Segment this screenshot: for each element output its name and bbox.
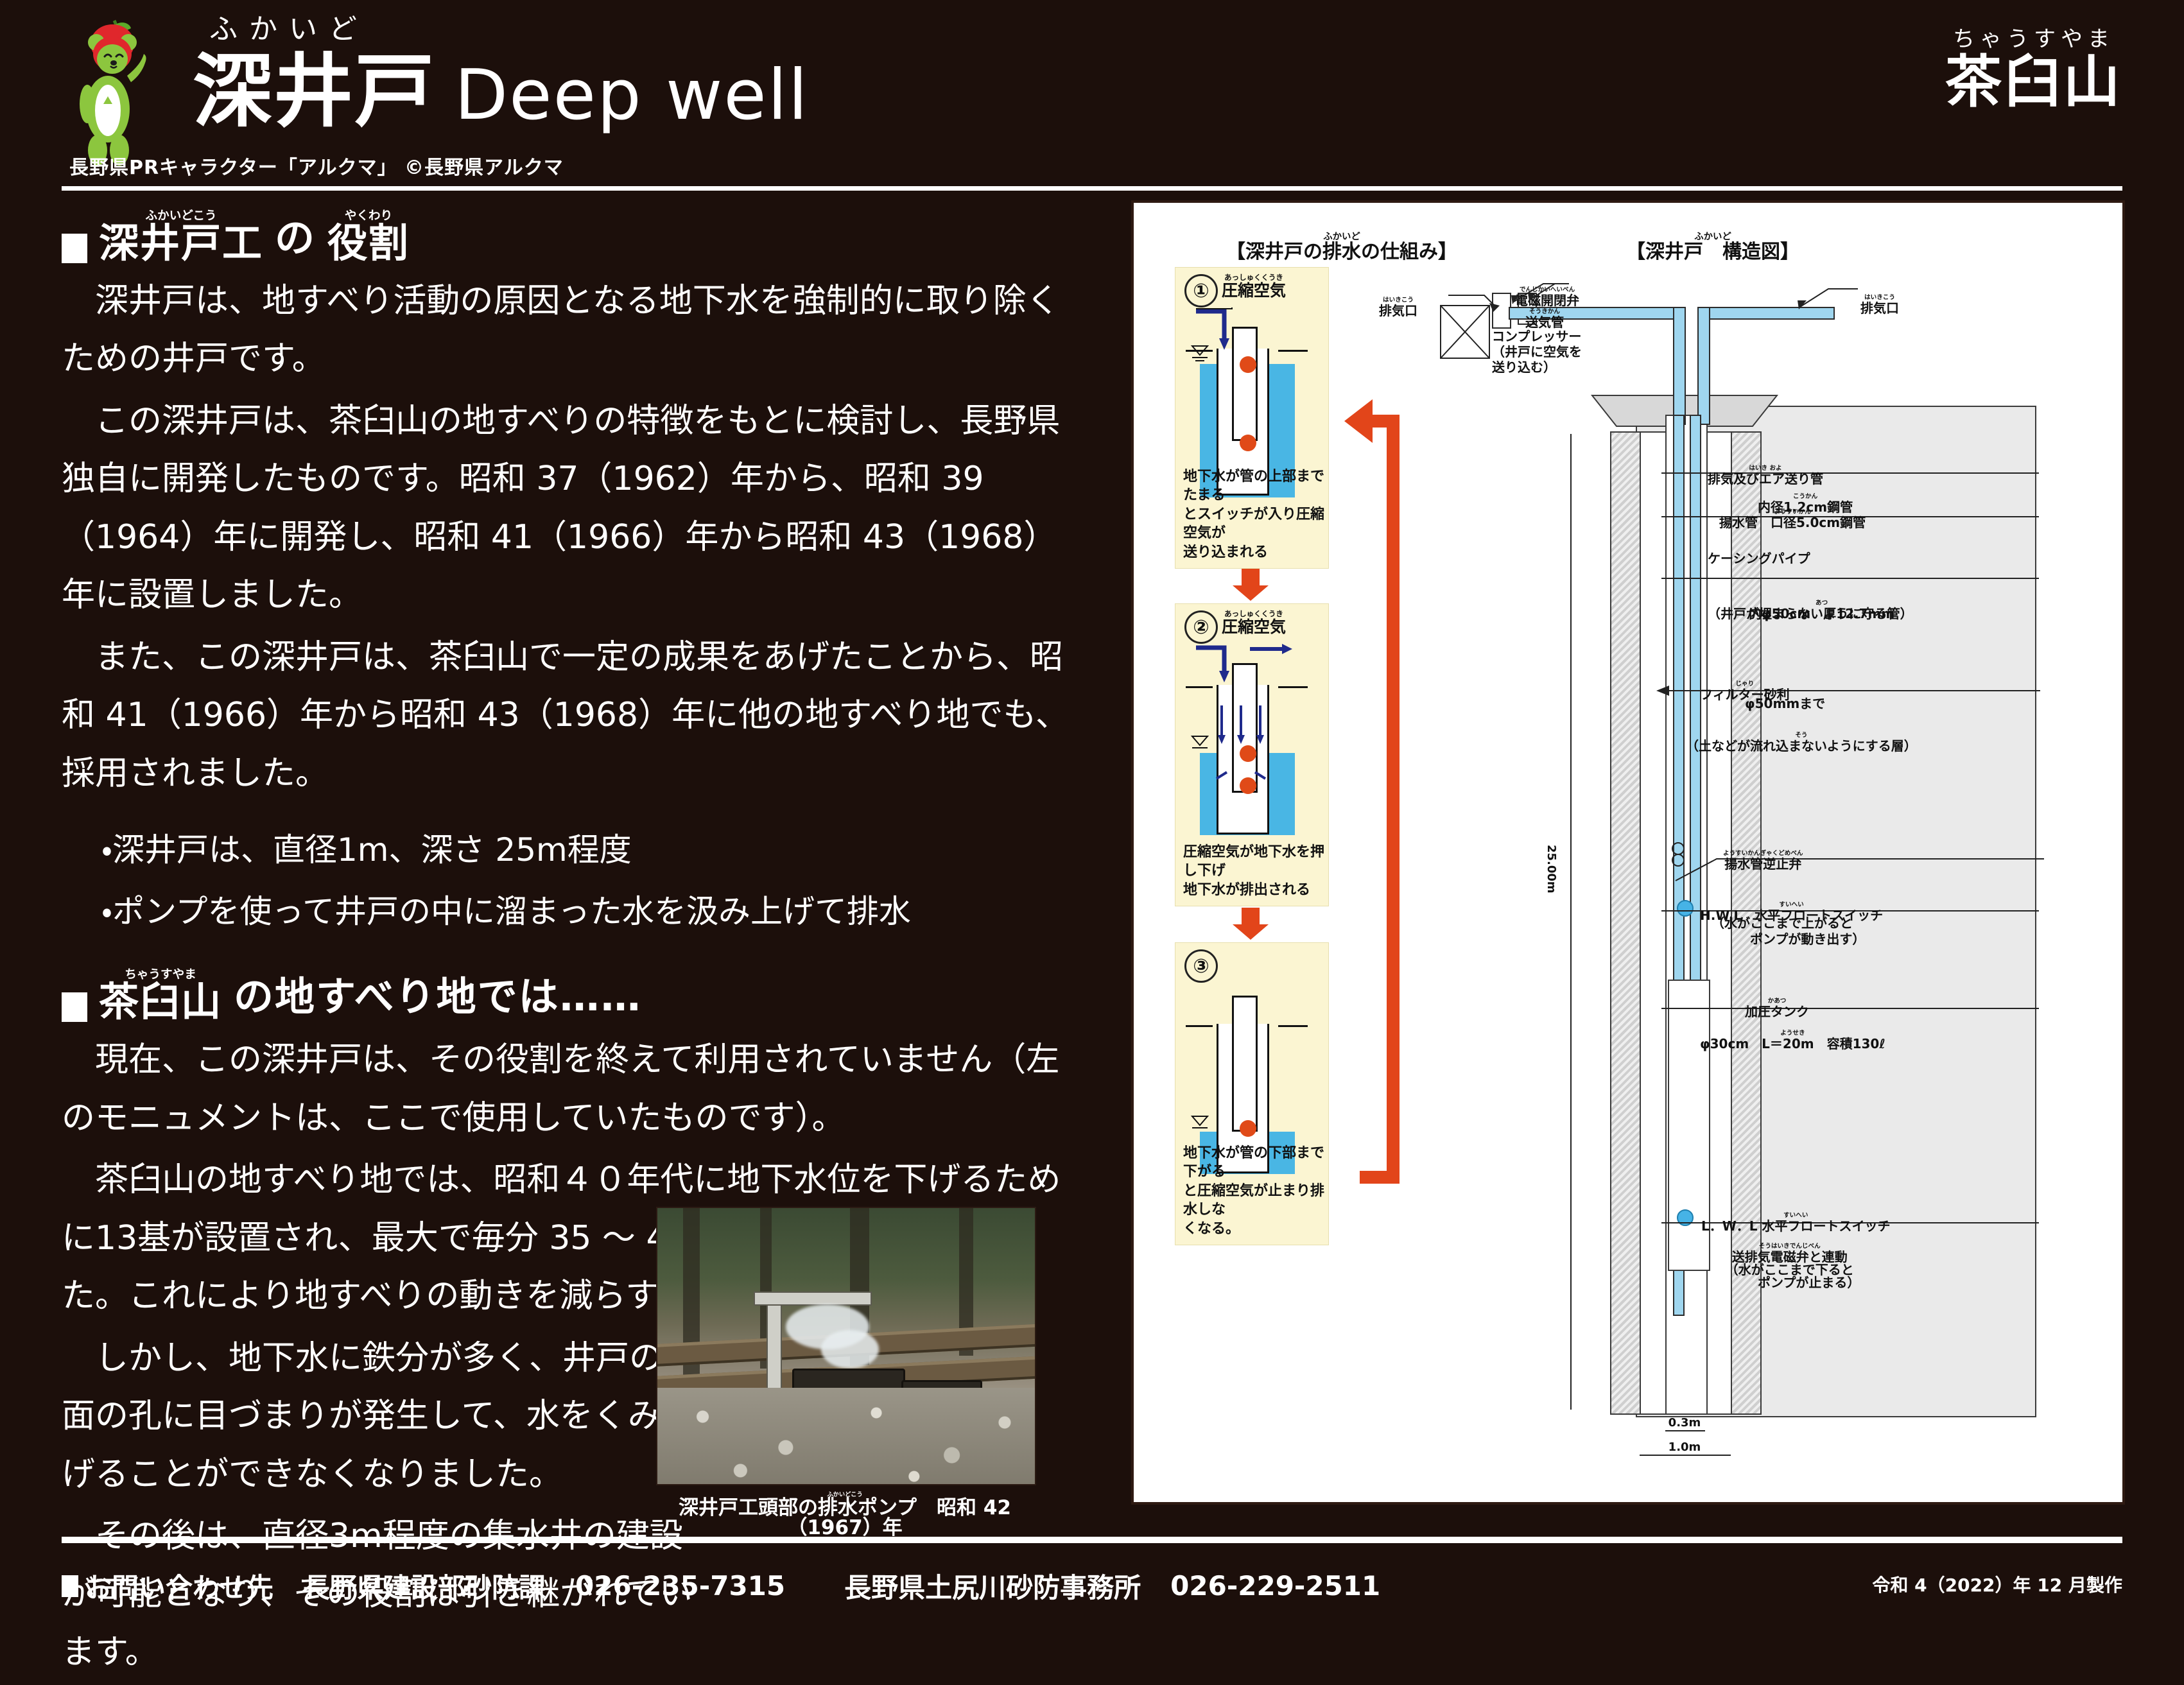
mascot-credit: 長野県PRキャラクター「アルクマ」 ©長野県アルクマ [69, 151, 564, 180]
label-air-pipe-text: 送気管 [1525, 316, 1564, 329]
heading2-base: 茶臼山 [99, 982, 222, 1022]
paragraph: しかし、地下水に鉄分が多く、井戸の表面の孔に目づまりが発生して、水をくみ上げるこ… [62, 1329, 710, 1503]
heading1-base1: 深井戸工 [99, 223, 263, 263]
photo-caption-text: 深井戸工頭部の排水ポンプ 昭和 42（1967）年 [656, 1498, 1034, 1538]
diagram-heading-right: ふかいど【深井戸 構造図】 [1626, 232, 1799, 263]
section-heading-1: ふかいどこう深井戸工 の やくわり役割 [62, 205, 1089, 263]
water-level-icon [1188, 343, 1214, 363]
brand-logo: ちゃうすやま 茶臼山 [1945, 26, 2122, 112]
paragraph: この深井戸は、茶臼山の地すべりの特徴をもとに検討し、長野県独自に開発したものです… [62, 392, 1089, 625]
label-air-pipe: そうきかん送気管 [1525, 293, 1564, 331]
photo-caption: ふかいどこう深井戸工頭部の排水ポンプ 昭和 42（1967）年 [656, 1492, 1034, 1539]
label-filter-spec: φ50mmまで [1745, 696, 1825, 712]
bullet-square-icon [62, 992, 87, 1022]
inner-width-dimension: 0.3m [1646, 1416, 1723, 1430]
title-english: Deep well [435, 55, 809, 135]
heading2-rest: の地すべり地では…… [234, 964, 642, 1022]
water-level-icon [1188, 734, 1214, 753]
air-flow-arrows-icon [1195, 644, 1310, 693]
paragraph: 現在、この深井戸は、その役割を終えて利用されていません（左のモニュメントは、ここ… [62, 1031, 1089, 1147]
footer-contact-label: お問い合わせ先 [85, 1566, 273, 1605]
label-check-valve-text: 揚水管逆止弁 [1723, 858, 1803, 870]
spec-bullet-list: ・深井戸は、直径1m、深さ 25m程度 ・ポンプを使って井戸の中に溜まった水を汲… [62, 819, 1089, 942]
diagram-panel: ふかいど【深井戸の排水の仕組み】 ふかいど【深井戸 構造図】 ① あっしゅくくう… [1131, 200, 2125, 1505]
outer-width-dimension: 1.0m [1646, 1440, 1723, 1454]
step-panel-3: ③ 地下水が管の下部まで下がる と圧縮空気が止まり排水しな くなる。 [1175, 942, 1329, 1245]
heading1-mid: の [275, 205, 316, 263]
footer-square-icon [62, 1575, 78, 1597]
step-label: あっしゅくくうき圧縮空気 [1222, 610, 1286, 636]
step-number: ② [1184, 610, 1218, 644]
label-tank-spec-text: φ30cm L＝20m 容積130ℓ [1700, 1037, 1885, 1050]
bullet-square-icon [62, 234, 87, 263]
step-caption: 地下水が管の上部までたまる とスイッチが入り圧縮空気が 送り込まれる [1183, 467, 1328, 562]
brand-name: 茶臼山 [1945, 53, 2122, 112]
label-exhaust-left: はいきこう排気口 [1379, 281, 1417, 319]
page-header: ふかいど 深井戸Deep well 長野県PRキャラクター「アルクマ」 ©長野県… [0, 0, 2184, 193]
label-hwl-note: （水がここまで上がると ポンプが動き出す） [1712, 915, 1865, 947]
photo-block: ふかいどこう深井戸工頭部の排水ポンプ 昭和 42（1967）年 [656, 1207, 1034, 1539]
label-tank-spec: ようせきφ30cm L＝20m 容積130ℓ [1700, 1014, 1885, 1052]
label-riser-text: 揚水管 口径5.0cm鋼管 [1719, 516, 1866, 529]
footer-divider [62, 1537, 2122, 1543]
step-label-ruby: あっしゅくくうき [1222, 610, 1286, 618]
mascot-arukuma-icon [50, 14, 178, 175]
step-label-ruby: あっしゅくくうき [1222, 274, 1286, 282]
label-lwl-note-text: 送排気電磁弁と連動 （水がここまで下ると ポンプが止まる） [1719, 1250, 1860, 1289]
step-number: ① [1184, 274, 1218, 307]
header-divider [62, 186, 2122, 191]
title-block: ふかいど 深井戸Deep well [193, 12, 809, 137]
return-flow-arrow-icon [1340, 393, 1405, 1189]
heading-right-text: 【深井戸 構造図】 [1626, 243, 1799, 262]
structure-diagram: 25.00m 0.3m 1.0m はいきこう排気口 でんじかいへいべん電磁開閉弁… [1417, 267, 2092, 1474]
footer-tel-1[interactable]: 026-235-7315 [575, 1570, 785, 1602]
label-check-valve: ようすいかんぎゃくどめべん揚水管逆止弁 [1723, 834, 1803, 872]
compressor-box-icon [1439, 304, 1491, 359]
downward-flow-arrows-icon [1215, 705, 1270, 782]
label-casing-pipe: ケーシングパイプ [1708, 551, 1810, 567]
title-ruby: ふかいど [209, 12, 809, 48]
label-exhaust-right: はいきこう排気口 [1860, 279, 1899, 316]
list-item: ・深井戸は、直径1m、深さ 25m程度 [101, 819, 1089, 881]
step-number: ③ [1184, 949, 1218, 983]
diagram-heading-left: ふかいど【深井戸の排水の仕組み】 [1226, 232, 1457, 263]
title-japanese: 深井戸 [193, 46, 435, 138]
footer-date: 令和 4（2022）年 12 月製作 [1872, 1571, 2122, 1597]
depth-dimension: 25.00m [1545, 845, 1558, 894]
page-footer: お問い合わせ先 長野県建設部砂防課 026-235-7315 長野県土尻川砂防事… [62, 1566, 2122, 1605]
label-riser-pipe: ようすいかん揚水管 口径5.0cm鋼管 [1719, 493, 1866, 531]
step-label-text: 圧縮空気 [1222, 619, 1286, 635]
heading-left-text: 【深井戸の排水の仕組み】 [1226, 243, 1457, 262]
well-pump-photo [656, 1207, 1036, 1485]
label-exhaust-left-text: 排気口 [1379, 304, 1417, 317]
footer-office-2: 長野県土尻川砂防事務所 [844, 1566, 1141, 1605]
flow-arrow-down-icon-1 [1230, 569, 1271, 602]
step-caption: 地下水が管の下部まで下がる と圧縮空気が止まり排水しな くなる。 [1183, 1144, 1328, 1238]
label-compressor: コンプレッサー （井戸に空気を 送り込む） [1492, 329, 1582, 375]
footer-tel-2[interactable]: 026-229-2511 [1170, 1570, 1380, 1602]
label-lwl-note: そうはいきでんじべん送排気電磁弁と連動 （水がここまで下ると ポンプが止まる） [1719, 1227, 1860, 1291]
step-panel-1: ① あっしゅくくうき圧縮空気 地下水が管の上部までたまる とスイッチが入り圧縮 [1175, 267, 1329, 569]
step-label-text: 圧縮空気 [1222, 282, 1286, 298]
heading1-base2: 役割 [327, 223, 410, 263]
step-panel-2: ② あっしゅくくうき圧縮空気 [1175, 603, 1329, 906]
step-caption: 圧縮空気が地下水を押し下げ 地下水が排出される [1183, 843, 1328, 899]
paragraph: 深井戸は、地すべり活動の原因となる地下水を強制的に取り除くための井戸です。 [62, 272, 1089, 388]
label-filter-note: そう（土などが流れ込まないようにする層） [1686, 716, 1917, 754]
page-title: 深井戸Deep well [193, 48, 809, 137]
list-item: ・ポンプを使って井戸の中に溜まった水を汲み上げて排水 [101, 881, 1089, 942]
step-label: あっしゅくくうき圧縮空気 [1222, 274, 1286, 300]
label-filter-note-text: （土などが流れ込まないようにする層） [1686, 739, 1917, 752]
label-exhaust-right-text: 排気口 [1860, 302, 1899, 315]
paragraph: また、この深井戸は、茶臼山で一定の成果をあげたことから、昭和 41（1966）年… [62, 628, 1089, 802]
step-2-well-diagram [1175, 644, 1328, 849]
footer-office-1: 長野県建設部砂防課 [303, 1566, 546, 1605]
flow-arrow-down-icon-2 [1230, 908, 1271, 941]
label-casing-note: （井戸が埋まらないように守る管） [1708, 606, 1913, 622]
water-level-icon [1188, 1114, 1214, 1133]
section-heading-2: ちゃうすやま茶臼山 の地すべり地では…… [62, 964, 1089, 1022]
